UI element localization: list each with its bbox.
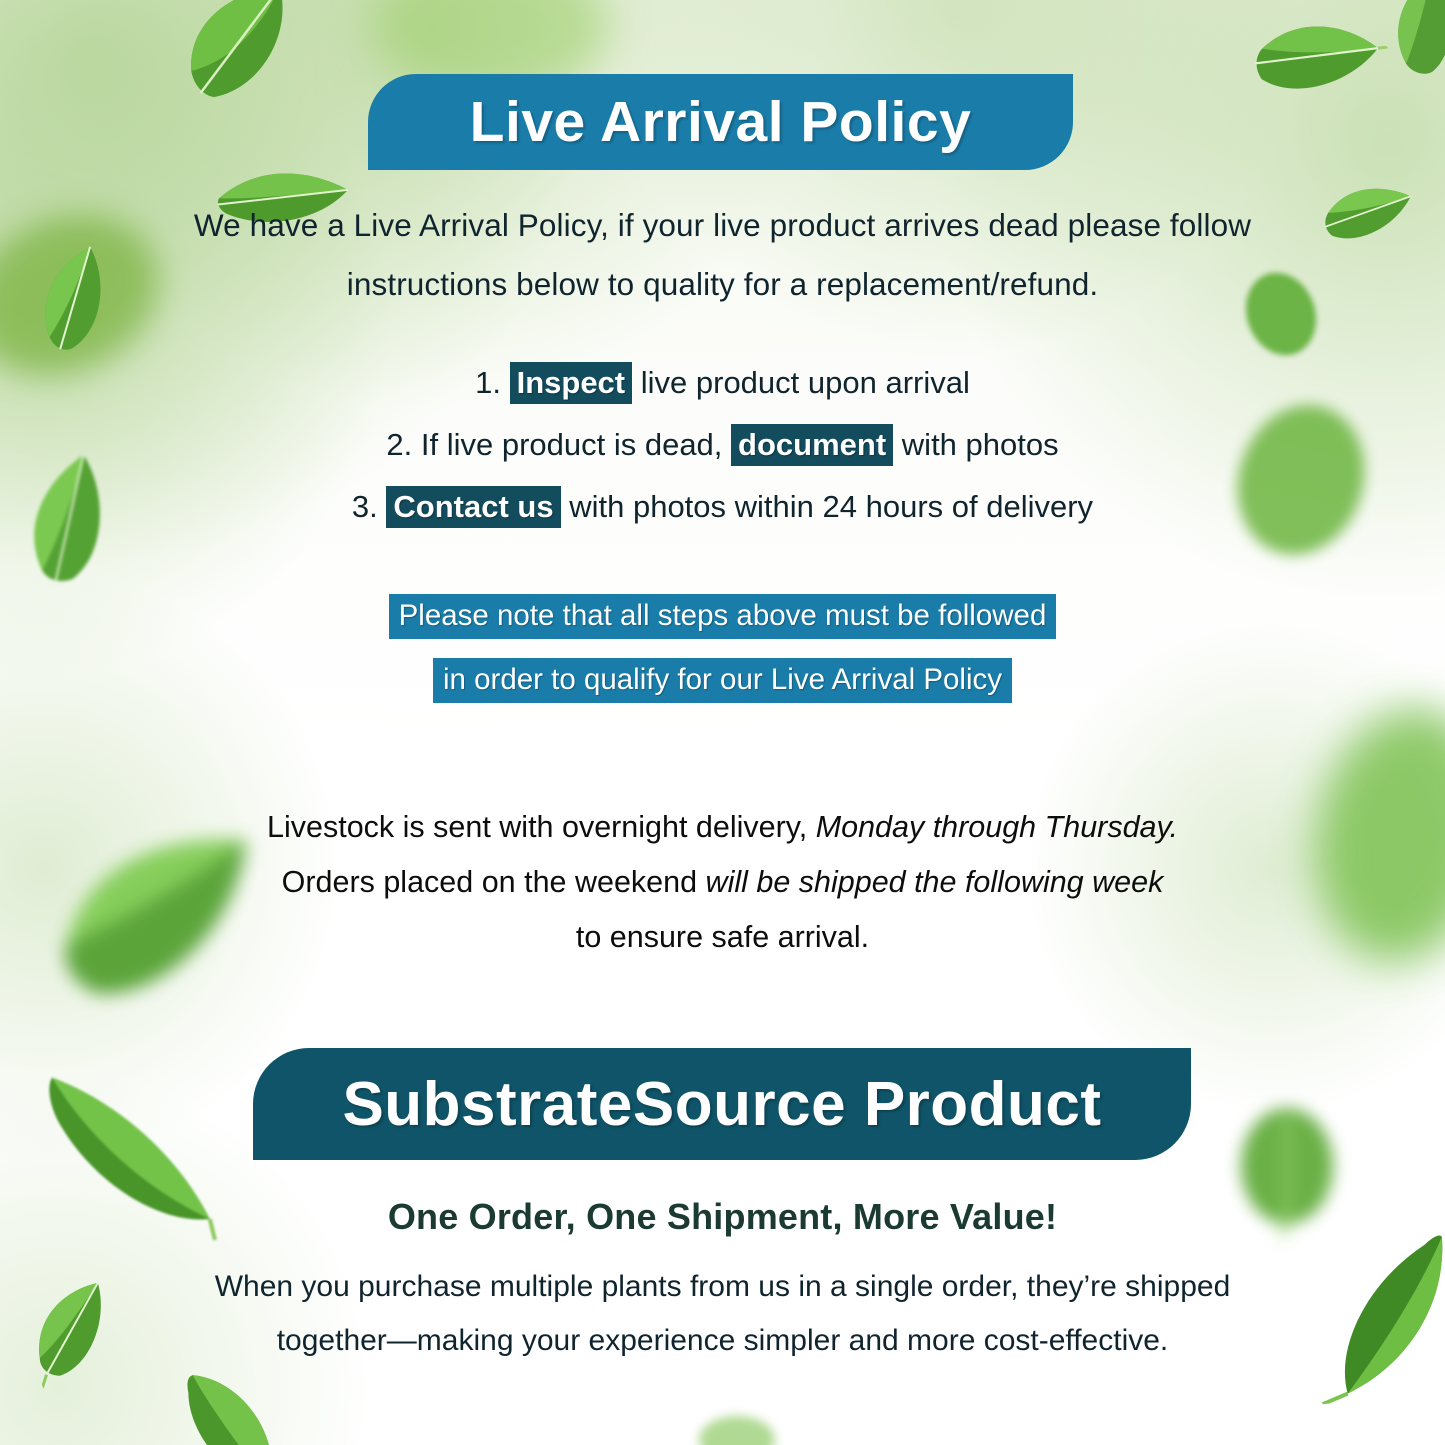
bundled-shipping-paragraph: When you purchase multiple plants from u…	[0, 1260, 1445, 1368]
list-item: 3. Contact us with photos within 24 hour…	[0, 476, 1445, 538]
shipping-schedule-paragraph: Livestock is sent with overnight deliver…	[0, 800, 1445, 965]
shipping-line-2-plain: Orders placed on the weekend	[282, 865, 697, 899]
step-highlight: Inspect	[510, 362, 633, 404]
list-item: 2. If live product is dead, document wit…	[0, 414, 1445, 476]
step-text: with photos	[902, 427, 1059, 462]
step-highlight: document	[731, 424, 893, 466]
step-number: 1.	[475, 365, 501, 400]
step-number: 3.	[352, 489, 378, 524]
step-text: with photos within 24 hours of delivery	[569, 489, 1093, 524]
shipping-line-3: to ensure safe arrival.	[0, 910, 1445, 965]
shipping-line-2-italic: will be shipped the following week	[706, 865, 1164, 899]
bottom-line-2: together—making your experience simpler …	[0, 1314, 1445, 1368]
note-line-2: in order to qualify for our Live Arrival…	[433, 658, 1012, 703]
intro-line-2: instructions below to quality for a repl…	[0, 255, 1445, 314]
step-number: 2.	[386, 427, 412, 462]
shipping-line-1-italic: Monday through Thursday.	[816, 810, 1178, 844]
policy-note-block: Please note that all steps above must be…	[0, 584, 1445, 712]
value-subheading: One Order, One Shipment, More Value!	[0, 1196, 1445, 1238]
bottom-line-1: When you purchase multiple plants from u…	[0, 1260, 1445, 1314]
intro-line-1: We have a Live Arrival Policy, if your l…	[0, 196, 1445, 255]
live-arrival-policy-banner: Live Arrival Policy	[368, 74, 1073, 170]
substratesource-product-banner: SubstrateSource Product	[253, 1048, 1191, 1160]
note-line-1: Please note that all steps above must be…	[389, 594, 1057, 639]
step-text-pre: If live product is dead,	[421, 427, 723, 462]
list-item: 1. Inspect live product upon arrival	[0, 352, 1445, 414]
page-content: Live Arrival Policy We have a Live Arriv…	[0, 0, 1445, 1445]
step-text: live product upon arrival	[641, 365, 970, 400]
shipping-line-2: Orders placed on the weekend will be shi…	[0, 855, 1445, 910]
step-highlight: Contact us	[386, 486, 560, 528]
shipping-line-1: Livestock is sent with overnight deliver…	[0, 800, 1445, 855]
intro-paragraph: We have a Live Arrival Policy, if your l…	[0, 196, 1445, 314]
shipping-line-1-plain: Livestock is sent with overnight deliver…	[267, 810, 807, 844]
policy-steps-list: 1. Inspect live product upon arrival 2. …	[0, 352, 1445, 538]
